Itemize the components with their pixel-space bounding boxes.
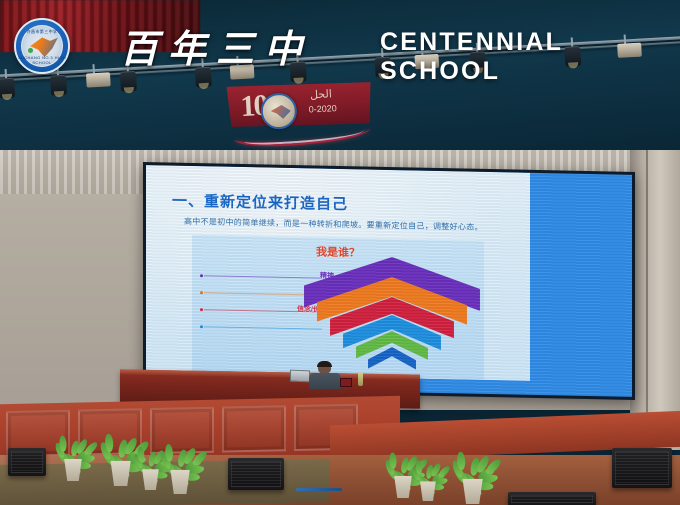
- stage-light: [617, 40, 642, 67]
- stage-monitor-speaker: [8, 448, 46, 476]
- stage-light: [289, 58, 306, 85]
- water-bottle: [358, 372, 363, 386]
- stage-monitor-speaker: [612, 448, 672, 488]
- slide-title: 一、重新定位来打造自己: [172, 190, 348, 215]
- slide-content-panel: 我是谁？ 精神身份信念/价值观: [192, 234, 484, 380]
- potted-plant: [460, 451, 495, 504]
- cable: [296, 488, 342, 491]
- slide-subtitle: 高中不是初中的简单继续，而是一种转折和爬坡。要重新定位自己，调整好心态。: [184, 216, 514, 234]
- stage-light: [0, 75, 15, 102]
- microphone-box: [340, 378, 352, 387]
- stage-light: [195, 64, 212, 91]
- stage-light: [414, 51, 439, 78]
- led-screen: 一、重新定位来打造自己 高中不是初中的简单继续，而是一种转折和爬坡。要重新定位自…: [143, 162, 635, 400]
- led-screen-surface: 一、重新定位来打造自己 高中不是初中的简单继续，而是一种转折和爬坡。要重新定位自…: [146, 165, 632, 397]
- auditorium-photo: 100 الحل 0-2020 一、重新定位来打造自己 高中不是初中的简单继续，…: [0, 0, 680, 505]
- potted-plant: [418, 460, 445, 501]
- stage-light: [374, 54, 391, 81]
- stage-light: [120, 68, 137, 95]
- stage-monitor-speaker: [228, 458, 284, 490]
- stage-light: [469, 48, 486, 75]
- centennial-banner: 100 الحل 0-2020: [223, 79, 376, 149]
- wall-right-column: [630, 150, 680, 450]
- label-bullet-icon: [200, 274, 203, 277]
- potted-plant: [62, 435, 92, 481]
- banner-years: 0-2020: [309, 103, 338, 114]
- stage-light: [50, 72, 67, 99]
- presentation-slide: 一、重新定位来打造自己 高中不是初中的简单继续，而是一种转折和爬坡。要重新定位自…: [146, 165, 530, 381]
- label-bullet-icon: [200, 291, 203, 294]
- red-curtain: [0, 0, 200, 52]
- stage-light: [86, 69, 111, 96]
- label-bullet-icon: [200, 308, 203, 311]
- stage-monitor-speaker: [508, 492, 596, 505]
- presenter: [305, 362, 345, 388]
- potted-plant: [168, 443, 201, 494]
- banner-arabic-text: الحل: [310, 87, 332, 101]
- stage-light: [564, 43, 581, 70]
